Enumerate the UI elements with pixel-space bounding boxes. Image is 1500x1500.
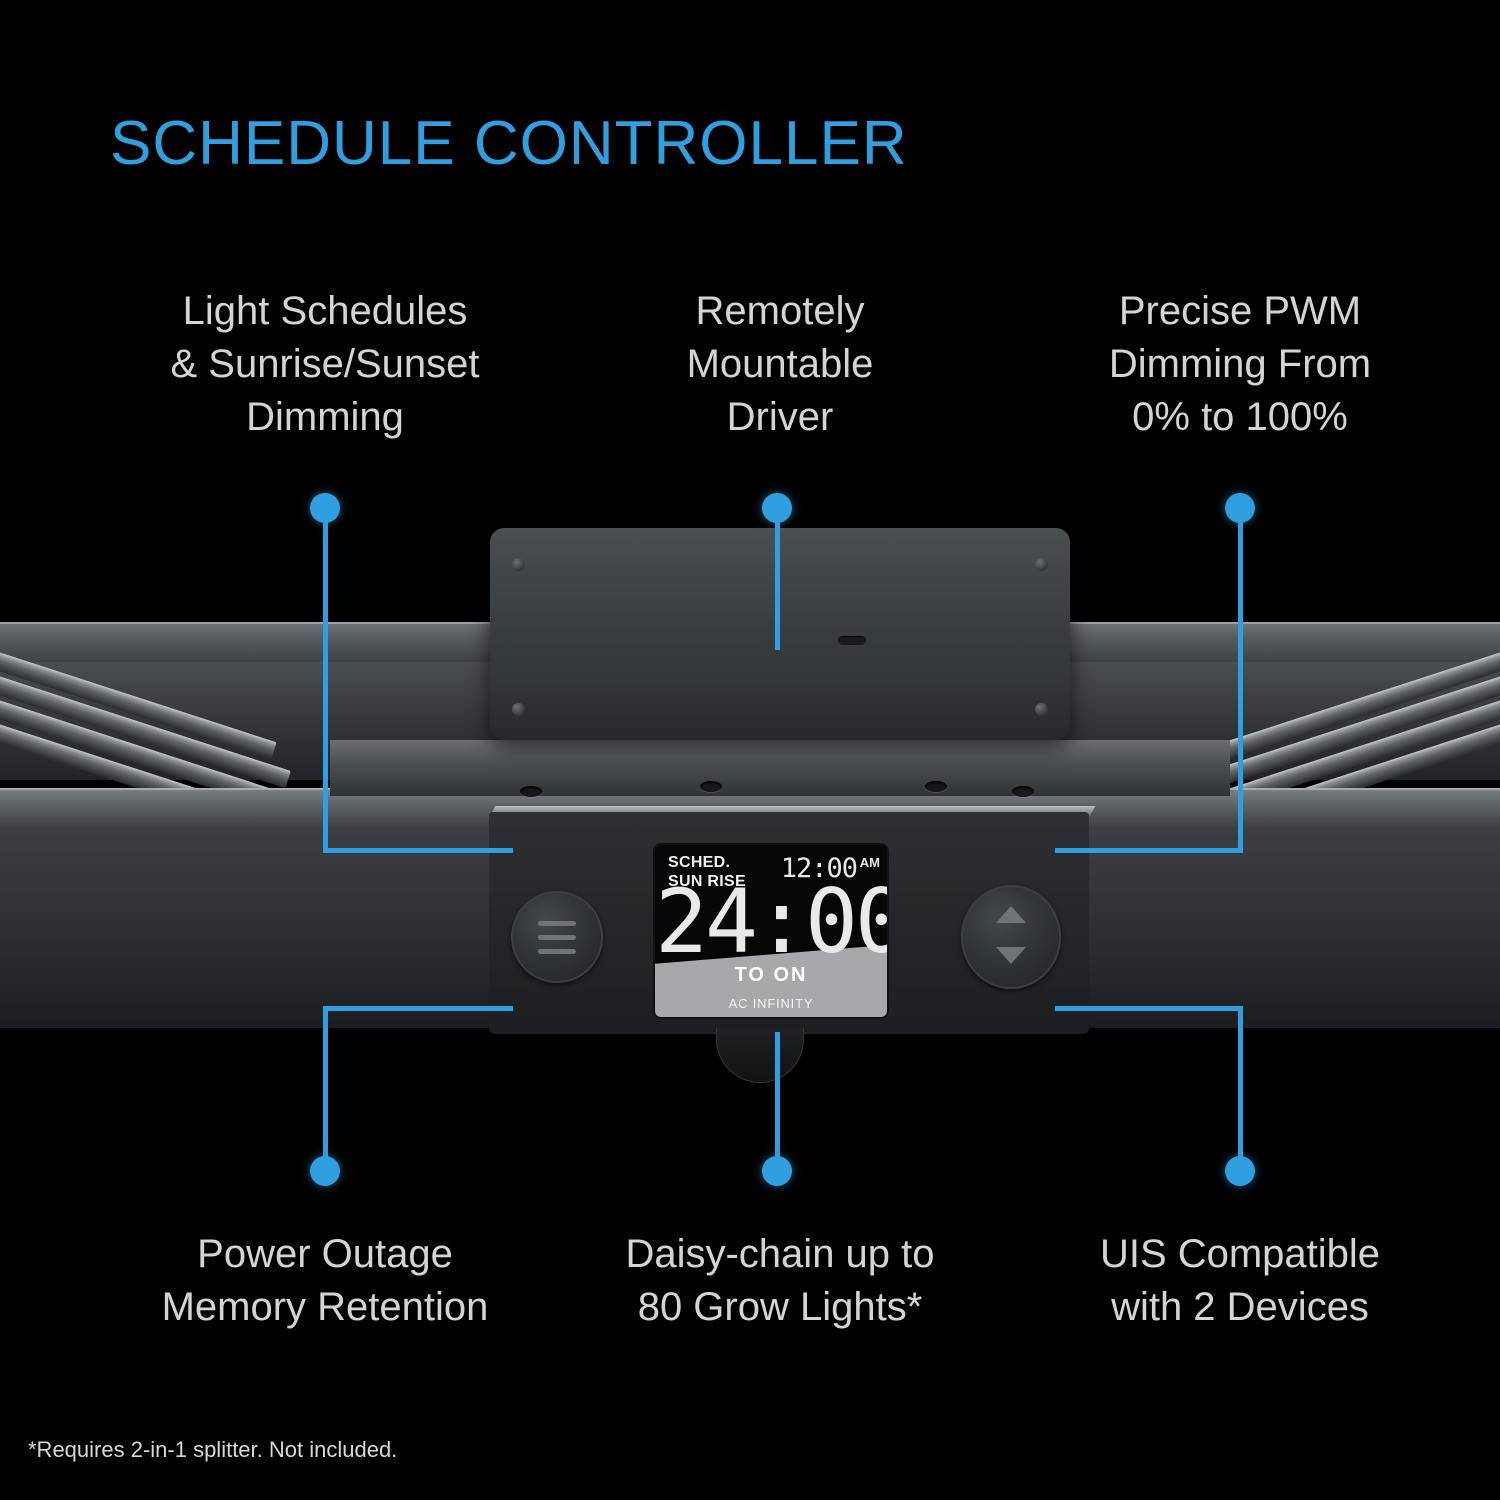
- callout-line-uis-compatible-h: [1055, 1006, 1243, 1011]
- page-title: SCHEDULE CONTROLLER: [110, 108, 908, 179]
- driver-screw: [512, 558, 525, 571]
- lcd-backlight-wedge: [655, 945, 887, 1017]
- callout-line-memory-retention-h: [323, 1006, 513, 1011]
- lcd-mode-label: SCHED.SUN RISE: [668, 854, 746, 891]
- mount-hole: [700, 781, 722, 792]
- lcd-mode-line2: SUN RISE: [668, 873, 746, 890]
- callout-line-light-schedules-v: [323, 508, 328, 853]
- callout-dot-daisy-chain: [762, 1156, 792, 1186]
- chevron-up-icon[interactable]: [996, 906, 1026, 923]
- callout-line-light-schedules-h: [323, 848, 513, 853]
- callout-line-uis-compatible-v: [1238, 1006, 1243, 1171]
- callout-label-pwm-dimming: Precise PWM Dimming From 0% to 100%: [990, 285, 1490, 445]
- callout-label-daisy-chain: Daisy-chain up to 80 Grow Lights*: [560, 1228, 1000, 1334]
- driver-screw: [512, 703, 525, 716]
- led-strip-right-4: [1181, 712, 1500, 845]
- callout-line-pwm-dimming-h: [1055, 848, 1243, 853]
- mount-hole: [520, 786, 542, 797]
- callout-line-daisy-chain-v: [775, 1032, 780, 1172]
- hamburger-icon: [538, 935, 576, 940]
- driver-vent-slot: [838, 636, 866, 645]
- callout-label-memory-retention: Power Outage Memory Retention: [60, 1228, 590, 1334]
- lcd-screen: SCHED.SUN RISE 12:00 AM 24:00 TO ON AC I…: [655, 845, 887, 1017]
- lcd-clock-meridiem: AM: [860, 855, 880, 870]
- callout-line-remote-driver-v: [775, 508, 780, 650]
- controller-top-bevel: [489, 806, 1095, 818]
- led-strip-left-1: [0, 640, 277, 759]
- mounting-plate: [330, 740, 1230, 796]
- lcd-main-value: 24:00: [655, 878, 887, 966]
- menu-button[interactable]: [511, 891, 603, 983]
- chevron-down-icon[interactable]: [996, 947, 1026, 964]
- driver-screw: [1035, 703, 1048, 716]
- light-bar-back-body: [0, 662, 1500, 780]
- product-infographic: SCHED.SUN RISE 12:00 AM 24:00 TO ON AC I…: [0, 0, 1500, 1500]
- led-strip-right-2: [1209, 664, 1500, 788]
- light-bar-front-body: [0, 828, 1500, 1028]
- hamburger-icon: [538, 921, 576, 926]
- callout-label-uis-compatible: UIS Compatible with 2 Devices: [990, 1228, 1490, 1334]
- driver-screw: [1035, 558, 1048, 571]
- lcd-clock-time: 12:00: [781, 853, 857, 884]
- hamburger-icon: [538, 949, 576, 954]
- callout-dot-memory-retention: [310, 1156, 340, 1186]
- callout-label-remote-driver: Remotely Mountable Driver: [560, 285, 1000, 445]
- light-bar-back-rail: [0, 622, 1500, 664]
- callout-dot-uis-compatible: [1225, 1156, 1255, 1186]
- center-rail-left: [339, 737, 598, 793]
- callout-line-memory-retention-v: [323, 1006, 328, 1171]
- lcd-mode-line1: SCHED.: [668, 854, 730, 871]
- controller-face: [489, 812, 1089, 1034]
- led-strip-right-1: [1223, 640, 1500, 759]
- center-rail-right: [902, 737, 1161, 793]
- led-strip-left-4: [0, 712, 319, 845]
- light-bar-front-rail: [0, 788, 1500, 830]
- callout-line-pwm-dimming-v: [1238, 508, 1243, 853]
- lcd-status-text: TO ON: [655, 964, 887, 987]
- remote-driver-box: [490, 528, 1070, 740]
- led-strip-left-2: [0, 664, 291, 788]
- mount-hole: [1012, 786, 1034, 797]
- led-strip-left-3: [0, 688, 305, 816]
- mount-hole: [925, 781, 947, 792]
- driver-heatsink-fins: [560, 532, 1000, 558]
- lcd-brand-label: AC INFINITY: [655, 996, 887, 1011]
- up-down-button[interactable]: [961, 885, 1061, 989]
- footnote-text: *Requires 2-in-1 splitter. Not included.: [28, 1437, 397, 1463]
- callout-label-light-schedules: Light Schedules & Sunrise/Sunset Dimming: [60, 285, 590, 445]
- controller-cable-boss: [716, 1028, 804, 1083]
